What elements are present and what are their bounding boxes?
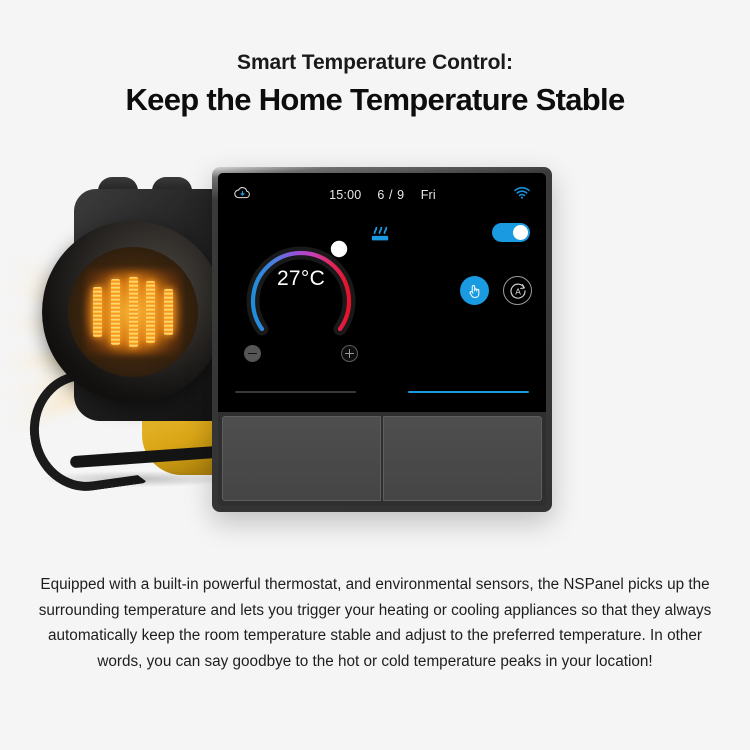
auto-mode-button[interactable]: A [503,276,532,305]
heater-bezel [42,221,224,403]
status-center: 15:00 6 / 9 Fri [251,188,514,202]
header-eyebrow: Smart Temperature Control: [0,50,750,76]
indicator-bar-right [408,391,529,393]
status-bar: 15:00 6 / 9 Fri [218,173,546,217]
physical-button-right[interactable] [383,416,542,501]
decrease-temperature-button[interactable] [244,345,261,362]
heating-elements [93,276,173,348]
description-paragraph: Equipped with a built-in powerful thermo… [0,572,750,675]
status-time: 15:00 [329,188,361,202]
auto-a-icon: A [508,281,528,301]
heating-element [146,281,155,343]
page-title: Keep the Home Temperature Stable [0,80,750,120]
mode-buttons: A [460,276,532,305]
toggle-knob [513,225,528,240]
indicator-bar-left [235,391,356,393]
increase-temperature-button[interactable] [341,345,358,362]
temperature-value: 27°C [232,267,370,291]
channel-indicators [218,391,546,393]
heating-element [129,277,138,347]
heater-grille [68,247,198,377]
space-heater-image [12,175,232,505]
thermostat-dial[interactable]: 27°C [232,217,370,345]
device-screen[interactable]: 15:00 6 / 9 Fri [218,173,546,412]
page-header: Smart Temperature Control: Keep the Home… [0,0,750,121]
physical-button-left[interactable] [222,416,381,501]
status-weekday: Fri [421,188,436,202]
device-frame: 15:00 6 / 9 Fri [218,173,546,506]
status-date: 6 / 9 [377,188,404,202]
minus-icon [248,353,257,355]
cloud-download-icon [234,186,251,204]
physical-buttons [218,412,546,506]
heating-element [164,289,173,335]
hand-touch-icon [467,283,482,299]
floor-heating-icon[interactable] [370,225,390,249]
wifi-icon [514,186,530,204]
manual-mode-button[interactable] [460,276,489,305]
hero-stage: 15:00 6 / 9 Fri [0,150,750,550]
power-toggle[interactable] [492,223,530,242]
heater-shadow [42,471,232,487]
heating-element [93,287,102,337]
heating-element [111,279,120,345]
temperature-stepper [232,345,370,362]
svg-text:A: A [515,286,521,296]
nspanel-device: 15:00 6 / 9 Fri [212,167,552,512]
